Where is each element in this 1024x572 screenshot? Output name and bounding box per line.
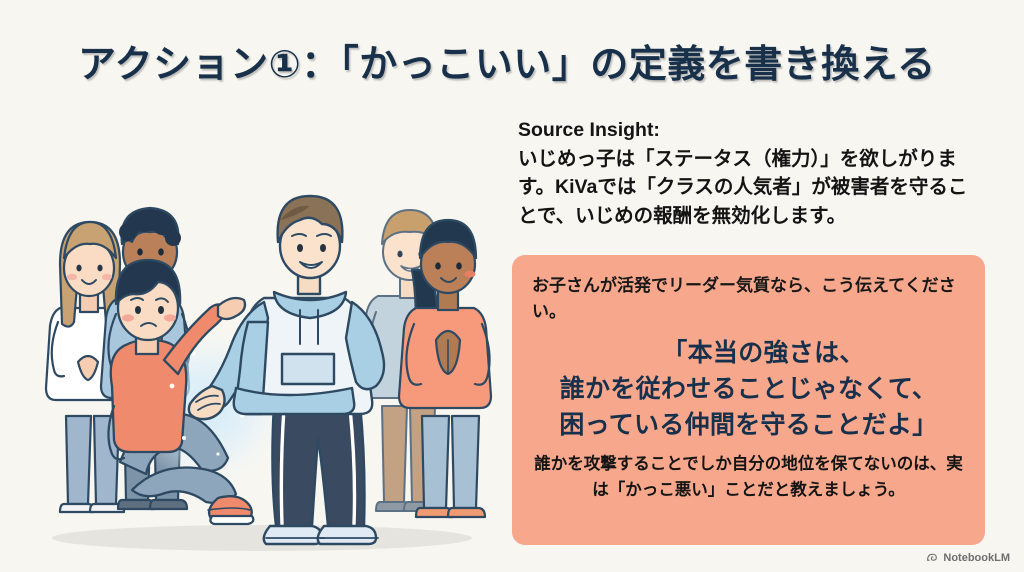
advice-card-lead: お子さんが活発でリーダー気質なら、こう伝えてください。 xyxy=(532,273,965,325)
advice-quote-line-2: 誰かを従わせることじゃなくて、 xyxy=(532,371,965,407)
advice-card-quote: 「本当の強さは、 誰かを従わせることじゃなくて、 困っている仲間を守ることだよ」 xyxy=(532,335,965,443)
advice-card: お子さんが活発でリーダー気質なら、こう伝えてください。 「本当の強さは、 誰かを… xyxy=(512,255,985,545)
advice-card-footer: 誰かを攻撃することでしか自分の地位を保てないのは、実は「かっこ悪い」ことだと教え… xyxy=(532,451,965,503)
slide-root: アクション①：「かっこいい」の定義を書き換える xyxy=(0,0,1024,572)
illustration-children-helping xyxy=(12,86,504,558)
page-title: アクション①：「かっこいい」の定義を書き換える xyxy=(78,33,936,88)
notebooklm-label: NotebookLM xyxy=(943,552,1010,564)
source-insight-label: Source Insight: xyxy=(518,116,982,145)
advice-quote-line-3: 困っている仲間を守ることだよ」 xyxy=(532,407,965,443)
source-insight-body: いじめっ子は「ステータス（権力）」を欲しがります。KiVaでは「クラスの人気者」… xyxy=(518,145,982,231)
source-insight-block: Source Insight: いじめっ子は「ステータス（権力）」を欲しがります… xyxy=(518,116,982,230)
notebooklm-watermark: NotebookLM xyxy=(926,551,1010,564)
notebooklm-icon xyxy=(926,551,939,564)
advice-quote-line-1: 「本当の強さは、 xyxy=(532,335,965,371)
